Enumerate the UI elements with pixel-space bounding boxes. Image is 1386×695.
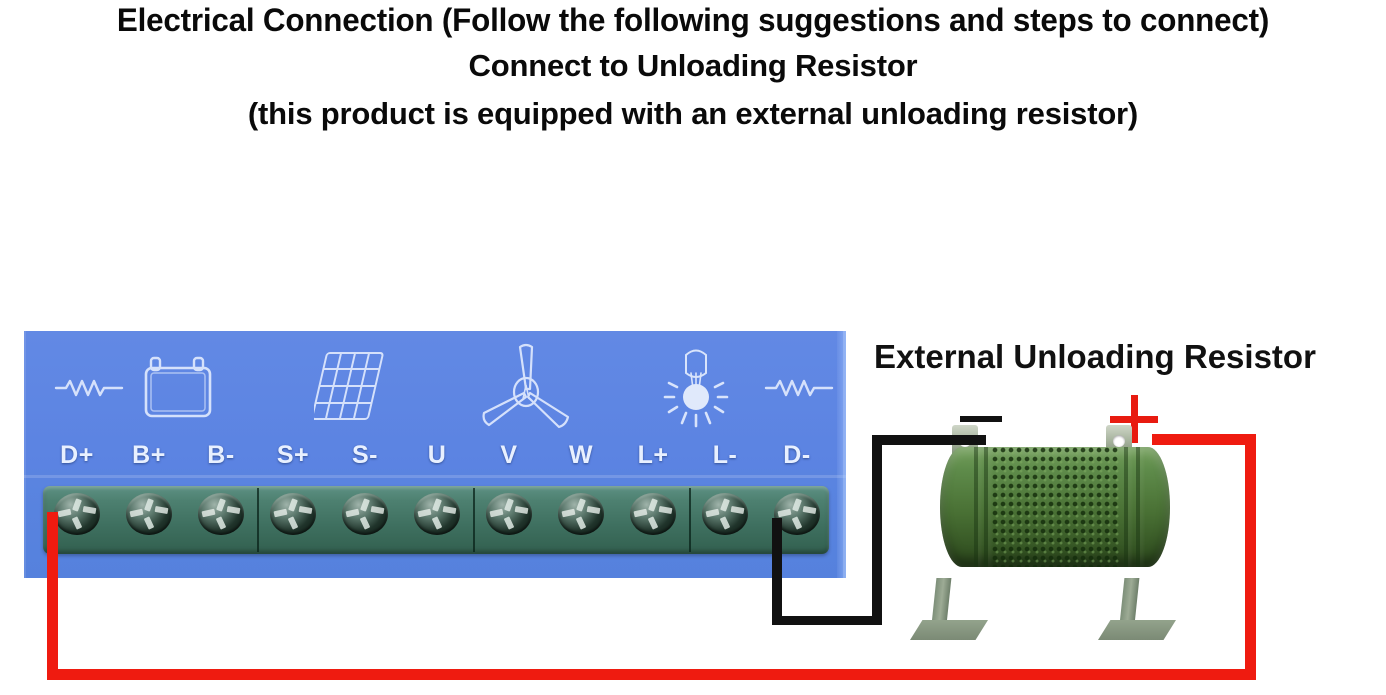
terminal-label-sminus: S- [330, 441, 400, 470]
solar-panel-icon [314, 349, 392, 425]
screw-slot [155, 506, 169, 514]
minus-polarity-marker [960, 416, 1002, 422]
negative-wire-segment [772, 518, 782, 625]
foot-base [910, 620, 988, 640]
negative-wire-segment [872, 435, 882, 625]
screw-slot [227, 506, 241, 514]
screw-slot [706, 509, 720, 518]
screw-slot [443, 506, 457, 514]
page-title-line-3: (this product is equipped with an extern… [0, 95, 1386, 133]
terminal-label-u: U [402, 441, 472, 470]
screw-slot [299, 506, 313, 514]
resistor-foot-right [1098, 578, 1176, 640]
battery-icon [142, 352, 220, 422]
terminal-label-lplus: L+ [618, 441, 688, 470]
resistor-icon [764, 375, 834, 401]
resistor-ribbed-band [992, 447, 1120, 567]
terminal-screw-splus[interactable] [270, 493, 316, 535]
board-seam [24, 475, 846, 478]
terminal-label-dplus: D+ [42, 441, 112, 470]
terminal-group-divider [473, 488, 475, 552]
screw-slot [778, 509, 792, 518]
screw-slot [490, 509, 504, 518]
screw-slot [346, 509, 360, 518]
terminal-label-w: W [546, 441, 616, 470]
wind-turbine-icon [476, 343, 576, 435]
external-unloading-resistor [900, 425, 1200, 640]
screw-slot [562, 509, 576, 518]
screw-slot [515, 506, 529, 514]
controller-board: D+B+B-S+S-UVWL+L-D- [24, 331, 846, 578]
screw-slot [634, 509, 648, 518]
terminal-screw-lminus[interactable] [702, 493, 748, 535]
terminal-strip [43, 486, 829, 554]
screw-slot [83, 506, 97, 514]
resistor-foot-left [910, 578, 988, 640]
terminal-screw-sminus[interactable] [342, 493, 388, 535]
screw-slot [371, 506, 385, 514]
terminal-label-row: D+B+B-S+S-UVWL+L-D- [24, 441, 846, 475]
foot-base [1098, 620, 1176, 640]
terminal-label-bminus: B- [186, 441, 256, 470]
negative-wire-segment [772, 616, 882, 625]
screw-slot [803, 506, 817, 514]
terminal-screw-u[interactable] [414, 493, 460, 535]
screw-slot [731, 506, 745, 514]
screw-slot [418, 509, 432, 518]
lamp-icon [660, 347, 732, 433]
terminal-group-divider [257, 488, 259, 552]
positive-wire-segment [47, 512, 58, 680]
body-groove [1136, 447, 1140, 567]
positive-wire-segment [1152, 434, 1256, 445]
resistor-icon [54, 375, 124, 401]
lug-hole [1113, 435, 1125, 447]
terminal-screw-dplus[interactable] [54, 493, 100, 535]
screw-slot [587, 506, 601, 514]
terminal-icon-row [24, 349, 846, 425]
terminal-screw-w[interactable] [558, 493, 604, 535]
terminal-label-splus: S+ [258, 441, 328, 470]
positive-wire-segment [47, 669, 1256, 680]
heading-block: Electrical Connection (Follow the follow… [0, 0, 1386, 133]
terminal-label-dminus: D- [762, 441, 832, 470]
foot-leg [932, 578, 952, 624]
screw-slot [202, 509, 216, 518]
body-groove [1124, 447, 1128, 567]
terminal-label-lminus: L- [690, 441, 760, 470]
page-title-line-2: Connect to Unloading Resistor [0, 47, 1386, 85]
screw-slot [130, 509, 144, 518]
resistor-body [940, 447, 1170, 567]
terminal-screw-v[interactable] [486, 493, 532, 535]
body-groove [974, 447, 978, 567]
page-title-line-1: Electrical Connection (Follow the follow… [14, 2, 1372, 39]
resistor-title: External Unloading Resistor [874, 338, 1316, 376]
foot-leg [1120, 578, 1140, 624]
terminal-label-bplus: B+ [114, 441, 184, 470]
screw-slot [58, 509, 72, 518]
negative-wire-segment [872, 435, 986, 445]
terminal-label-v: V [474, 441, 544, 470]
terminal-screw-bminus[interactable] [198, 493, 244, 535]
terminal-screw-bplus[interactable] [126, 493, 172, 535]
screw-slot [274, 509, 288, 518]
terminal-screw-lplus[interactable] [630, 493, 676, 535]
terminal-group-divider [689, 488, 691, 552]
positive-wire-segment [1245, 434, 1256, 680]
body-groove [984, 447, 988, 567]
screw-slot [659, 506, 673, 514]
